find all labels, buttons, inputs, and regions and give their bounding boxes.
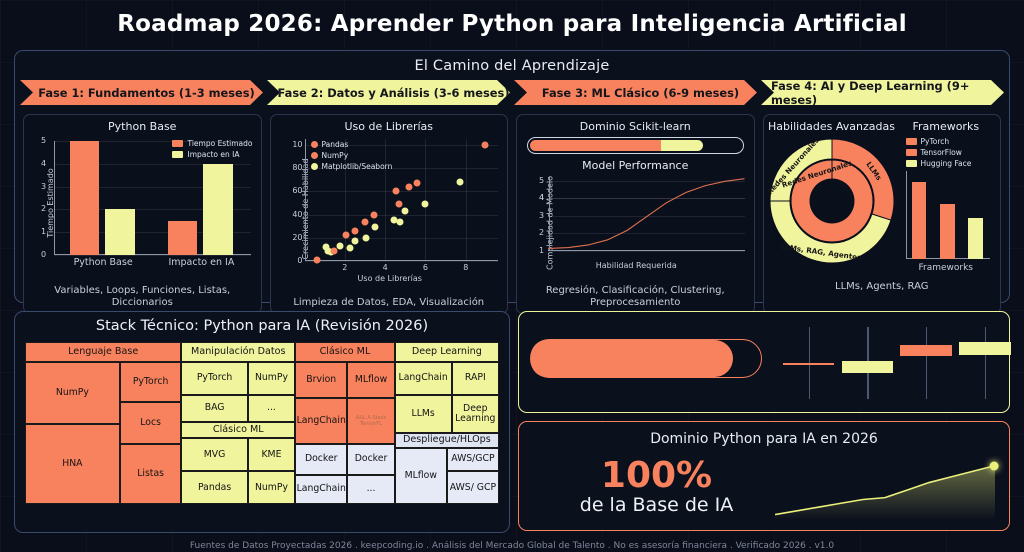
treemap-cell-docker1: Docker [295,444,347,475]
scatter-chart-uso-librerias: Crecimiento de Habilidad 020406080102468… [279,135,502,283]
y-tick-label: 5 [41,136,46,145]
y-tick-label: 60 [290,186,303,195]
y-axis-line [54,141,55,255]
chart-title-habilidades: Habilidades Avanzadas [768,120,896,133]
scatter-point [456,179,463,186]
sparkline-svg [775,452,995,520]
phase-banner-4[interactable]: Fase 4: AI y Deep Learning (9+ meses) [761,80,1004,105]
scatter-point [351,238,358,245]
chart-legend: Tiempo Estimado Impacto en IA [172,139,252,159]
x-tick-label: Python Base [54,257,152,268]
treemap-cell-kme: KME [248,438,295,471]
chart-title-model-performance: Model Performance [521,159,750,172]
phase-card-2: Uso de Librerías Crecimiento de Habilida… [270,114,509,314]
y-axis-line [906,171,907,259]
treemap-cell-mvg: MVG [181,438,247,471]
grid-line [305,238,499,239]
scatter-point [313,256,320,263]
candle-body [900,345,952,356]
progress-title-scikit: Dominio Scikit-learn [521,120,750,133]
kpi-panel: Dominio Python para IA en 2026 100% de l… [518,421,1010,531]
candle-wick [926,327,927,399]
legend-label-numpy: NumPy [322,151,349,160]
y-tick-label: 3 [539,211,544,220]
legend-dot-pandas [311,141,318,148]
scatter-point [361,218,368,225]
treemap-cell-deeplearning: Deep Learning [452,395,499,433]
treemap-cell-numpy3: NumPy [248,471,295,504]
learning-path-title: El Camino del Aprendizaje [15,51,1009,80]
treemap-cell-listas: Listas [120,444,182,504]
chart-title-python-base: Python Base [28,120,257,133]
scatter-point [402,208,409,215]
x-tick-label: Impacto en IA [152,257,250,268]
treemap-header-clasico: Clásico ML [295,342,395,362]
phase-card-1: Python Base Tiempo Estimado 012345Python… [23,114,262,314]
tech-stack-panel: Stack Técnico: Python para IA (Revisión … [14,311,510,533]
treemap-cell-hna: HNA [25,424,120,504]
y-tick-label: 40 [290,210,303,219]
treemap-cell-asla: A&L.A Stack TensorFL [347,398,394,444]
treemap-cell-pandas: Pandas [181,471,247,504]
x-tick-label: 4 [380,263,390,272]
treemap-cell-langchain: LangChain [295,398,347,444]
x-axis-label: Frameworks [896,263,997,273]
scatter-point [397,218,404,225]
y-tick-label: 4 [539,193,544,202]
line-chart-model-performance: Complejidad de Modelo 123445 Habilidad R… [525,174,748,271]
y-tick-label: 0 [41,250,46,259]
chart-legend: Pandas NumPy Matplotlib/Seaborn [311,140,393,171]
progress-and-candles-panel [518,311,1010,413]
y-tick-label: 0 [290,256,303,265]
legend-swatch-tensorflow [906,149,917,156]
bar-framework [940,204,955,259]
treemap-cell-pytorch2: PyTorch [181,362,247,395]
legend-swatch-impacto [172,151,183,158]
bar-impacto [203,164,232,255]
treemap-cell-ellipsis1: ... [248,395,295,422]
phase-banner-row: Fase 1: Fundamentos (1-3 meses) Fase 2: … [15,80,1009,105]
phase-card-3-footer: Regresión, Clasificación, Clustering, Pr… [521,283,750,309]
donut-chart-habilidades: LLMsLLMs, RAG, AgentesRedes NeuronalesRe… [768,137,896,265]
legend-swatch-huggingface [906,160,917,167]
treemap-cell-numpy: NumPy [25,362,120,424]
x-tick-label: 2 [340,263,350,272]
treemap-header-lenguaje: Lenguaje Base [25,342,181,362]
legend-label-tensorflow: TensorFlow [921,148,962,157]
kpi-value: 100% [539,458,774,494]
treemap-cell-numpy2: NumPy [248,362,295,395]
kpi-caption: de la Base de IA [539,494,774,516]
phase-banner-2[interactable]: Fase 2: Datos y Análisis (3-6 meses) [267,80,510,105]
large-progress-bar[interactable] [530,339,762,378]
bar-impacto [105,209,134,255]
y-tick-label: 5 [539,176,544,185]
scatter-point [371,211,378,218]
scatter-point [393,188,400,195]
phase-card-2-footer: Limpieza de Datos, EDA, Visualización [275,295,504,309]
treemap-subheader-clasico: Clásico ML [181,422,295,438]
scatter-point [422,201,429,208]
y-tick-label: 1 [539,246,544,255]
bar-framework [912,182,927,259]
legend-label-huggingface: Hugging Face [921,159,972,168]
treemap-cell-brvion: Brvion [295,362,347,398]
scatter-point [346,245,353,252]
treemap-subheader-despliegue: Despliegue/HLOps [395,433,499,448]
treemap-cell-docker2: Docker [347,444,394,475]
learning-path-panel: El Camino del Aprendizaje Fase 1: Fundam… [14,50,1010,303]
kpi-sparkline [775,452,995,520]
treemap-cell-rapi: RAPI [452,362,499,395]
candle-wick [985,327,986,399]
legend-label-pandas: Pandas [322,140,349,149]
phase-card-4: Habilidades Avanzadas LLMsLLMs, RAG, Age… [763,114,1002,314]
y-tick-label: 1 [41,227,46,236]
bar-framework [968,218,983,259]
treemap-header-deep: Deep Learning [395,342,499,362]
scatter-point [336,242,343,249]
sparkline-endpoint-dot [990,461,999,470]
grid-line [466,139,467,261]
treemap-cell-mlflow2: MLflow [395,448,447,504]
y-tick-label: 10 [290,140,303,149]
y-tick-label: 20 [290,233,303,242]
treemap-cell-mlflow: MLflow [347,362,394,398]
legend-swatch-tiempo [172,140,183,147]
scatter-point [351,227,358,234]
bar-chart-frameworks: PyTorch TensorFlow Hugging Face Framewor… [896,135,997,273]
tech-stack-treemap: Lenguaje BaseManipulación DatosClásico M… [25,342,499,524]
page-title: Roadmap 2026: Aprender Python para Intel… [0,0,1024,46]
y-tick-label: 4 [41,159,46,168]
grid-line [305,191,499,192]
chart-legend: PyTorch TensorFlow Hugging Face [906,137,972,168]
legend-label-impacto: Impacto en IA [187,150,239,159]
sigmoid-curve [549,177,745,251]
grid-line [305,261,499,262]
scatter-point [414,180,421,187]
phase-banner-1[interactable]: Fase 1: Fundamentos (1-3 meses) [20,80,263,105]
scatter-point [406,183,413,190]
candle-body [959,342,1011,355]
y-tick-label: 2 [41,204,46,213]
phase-cards-row: Python Base Tiempo Estimado 012345Python… [15,105,1009,314]
legend-swatch-pytorch [906,138,917,145]
phase-banner-3[interactable]: Fase 3: ML Clásico (6-9 meses) [514,80,757,105]
x-tick-label: 8 [461,263,471,272]
y-axis-line [305,139,306,261]
treemap-cell-ellipsis2: ... [347,475,394,504]
x-tick-label: 6 [420,263,430,272]
treemap-cell-awsgcp2: AWS/ GCP [447,471,499,504]
x-axis-label: Uso de Librerías [279,274,502,283]
bar-chart-python-base: Tiempo Estimado 012345Python BaseImpacto… [32,135,255,271]
progress-fill [531,340,733,377]
tech-stack-title: Stack Técnico: Python para IA (Revisión … [15,312,509,339]
scatter-point [372,224,379,231]
treemap-cell-pytorch: PyTorch [120,362,182,402]
phase-card-3: Dominio Scikit-learn Model Performance C… [516,114,755,314]
scatter-point [481,141,488,148]
treemap-cell-langchain3: LangChain [395,362,452,395]
treemap-cell-bag: BAG [181,395,247,422]
y-tick-label: 80 [290,163,303,172]
scatter-point [396,201,403,208]
bar-tiempo [168,221,197,255]
legend-label-matplotlib: Matplotlib/Seaborn [322,162,393,171]
y-tick-label: 2 [539,228,544,237]
grid-line [305,215,499,216]
candle-body [842,361,894,372]
kpi-title: Dominio Python para IA en 2026 [519,422,1009,447]
scikit-progress-bar[interactable] [527,137,744,154]
legend-dot-numpy [311,152,318,159]
phase-card-4-footer: LLMs, Agents, RAG [768,279,997,293]
chart-title-frameworks: Frameworks [896,120,997,133]
treemap-cell-locs: Locs [120,402,182,444]
legend-label-pytorch: PyTorch [921,137,950,146]
y-tick-label: 3 [41,182,46,191]
treemap-cell-awsgcp1: AWS/GCP [447,448,499,472]
x-axis-label: Habilidad Requerida [525,261,748,270]
mini-candlestick-chart [764,322,999,404]
bar-tiempo [70,141,99,255]
footer-note: Fuentes de Datos Proyectadas 2026 . keep… [0,541,1024,551]
progress-segment-orange [530,140,661,151]
candle-body [783,363,835,365]
legend-dot-matplotlib [311,163,318,170]
chart-title-uso-librerias: Uso de Librerías [275,120,504,133]
treemap-cell-langchain2: LangChain [295,475,347,504]
legend-label-tiempo: Tiempo Estimado [187,139,252,148]
grid-line [549,251,745,252]
grid-line [54,255,251,256]
progress-segment-yellow [661,140,703,151]
phase-card-1-footer: Variables, Loops, Funciones, Listas, Dic… [28,283,257,309]
scatter-point [342,232,349,239]
treemap-header-manipulacion: Manipulación Datos [181,342,295,362]
treemap-cell-llms: LLMs [395,395,452,433]
scatter-point [362,234,369,241]
